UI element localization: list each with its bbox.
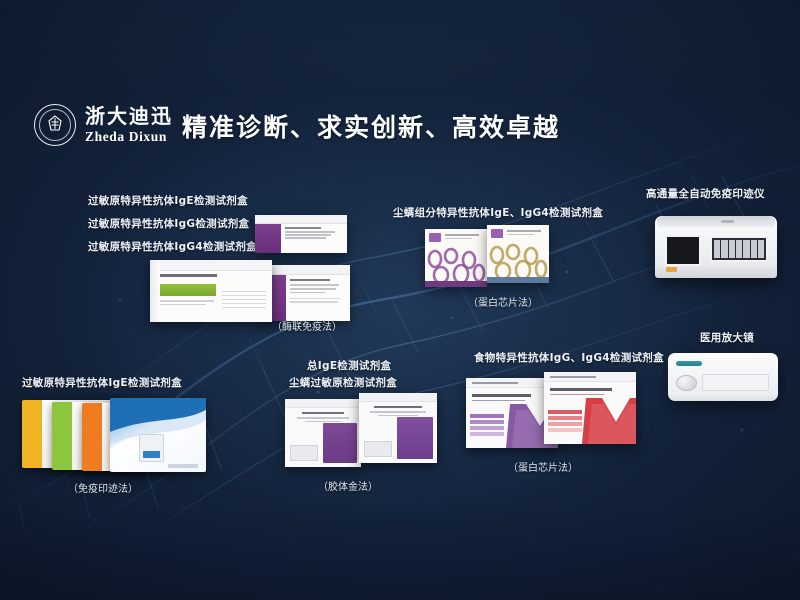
caption-immunoblot: （免疫印迹法） [68, 480, 138, 495]
magnifier-slot [702, 374, 769, 391]
bottom-gradient-band [0, 505, 800, 600]
elisa-box-right [262, 265, 350, 321]
gold-box-left [285, 399, 361, 467]
product-magnifier[interactable] [668, 353, 778, 401]
caption-food-chip: （蛋白芯片法） [508, 459, 578, 474]
product-colloidal-gold[interactable] [285, 393, 437, 469]
chip-box-gold [487, 225, 549, 283]
poster-background: 浙大迪迅 Zheda Dixun 精准诊断、求实创新、高效卓越 过敏原特异性抗体… [0, 0, 800, 600]
product-dust-mite-chip[interactable] [425, 225, 550, 287]
label-immunoblot: 过敏原特异性抗体IgE检测试剂盒 [22, 375, 182, 390]
analyzer-sample-tray [710, 236, 769, 262]
analyzer-handle [721, 220, 734, 223]
analyzer-screen [665, 235, 702, 266]
product-elisa-kits[interactable] [150, 215, 350, 325]
label-total-ige: 总IgE检测试剂盒 [307, 358, 391, 373]
analyzer-indicator-icon [666, 267, 677, 272]
product-analyzer[interactable] [655, 216, 777, 278]
product-immunoblot-folders[interactable] [22, 398, 202, 476]
label-food-chip: 食物特异性抗体IgG、IgG4检测试剂盒 [474, 350, 664, 365]
caption-elisa: （酶联免疫法） [272, 318, 342, 333]
magnifier-status-bar [676, 361, 702, 366]
chip-box-purple [425, 229, 487, 287]
caption-dust-mite-chip: （蛋白芯片法） [468, 294, 538, 309]
food-chip-box-red [544, 372, 636, 444]
emblem-glyph-icon [42, 112, 68, 138]
folder-blue [110, 398, 206, 472]
circular-emblem-icon [34, 104, 76, 146]
label-elisa-ige: 过敏原特异性抗体IgE检测试剂盒 [88, 193, 248, 208]
label-dust-mite-allergen: 尘螨过敏原检测试剂盒 [289, 375, 397, 390]
logo-text-cn: 浙大迪迅 [85, 106, 173, 127]
page-headline: 精准诊断、求实创新、高效卓越 [182, 108, 560, 144]
product-food-chip[interactable] [466, 372, 636, 452]
top-gradient-band [0, 0, 800, 92]
label-analyzer: 高通量全自动免疫印迹仪 [646, 186, 765, 201]
label-dust-mite-chip: 尘螨组分特异性抗体IgE、IgG4检测试剂盒 [393, 205, 603, 220]
magnifier-dial-icon [676, 375, 697, 391]
logo-text-en: Zheda Dixun [85, 129, 173, 145]
brand-logo: 浙大迪迅 Zheda Dixun [34, 104, 173, 146]
gold-box-right [359, 393, 437, 463]
caption-colloidal-gold: （胶体金法） [318, 478, 378, 493]
elisa-box-back [255, 215, 347, 253]
elisa-box-front [150, 260, 272, 322]
label-magnifier: 医用放大镜 [700, 330, 754, 345]
